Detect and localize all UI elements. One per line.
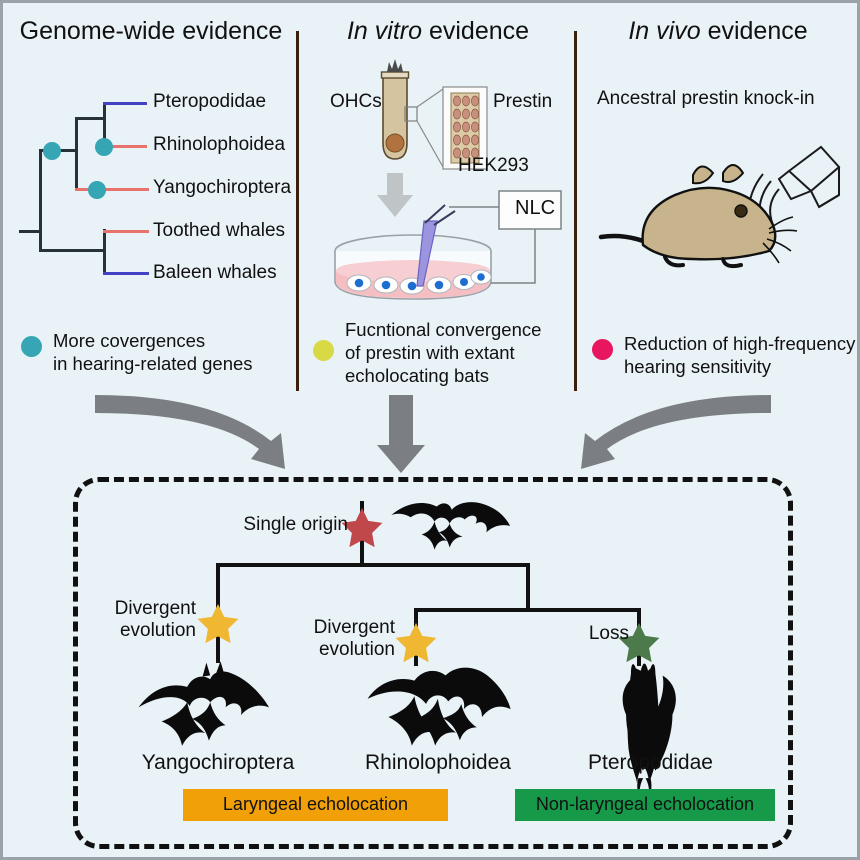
badge-non-laryngeal-echolocation: Non-laryngeal echolocation xyxy=(515,789,775,821)
conclusion-taxon-yangochiroptera-text: Yangochiroptera xyxy=(142,751,295,774)
figure-canvas: Genome-wide evidence In vitro evidence I… xyxy=(0,0,860,860)
crown-bat-silhouette xyxy=(391,502,510,550)
conclusion-taxon-yangochiroptera: Yangochiroptera xyxy=(103,751,333,775)
badge-laryngeal-echolocation: Laryngeal echolocation xyxy=(183,789,448,821)
bat-silhouettes xyxy=(3,3,860,860)
rhinolophoidea-bat-silhouette xyxy=(368,668,511,746)
conclusion-taxon-rhinolophoidea: Rhinolophoidea xyxy=(323,751,553,775)
pteropodidae-bat-silhouette xyxy=(623,663,676,797)
conclusion-taxon-pteropodidae-text: Pteropodidae xyxy=(588,751,713,774)
badge-laryngeal-echolocation-text: Laryngeal echolocation xyxy=(223,794,408,814)
conclusion-taxon-pteropodidae: Pteropodidae xyxy=(548,751,753,775)
badge-non-laryngeal-echolocation-text: Non-laryngeal echolocation xyxy=(536,794,754,814)
yangochiroptera-bat-silhouette xyxy=(139,661,270,745)
conclusion-taxon-rhinolophoidea-text: Rhinolophoidea xyxy=(365,751,511,774)
